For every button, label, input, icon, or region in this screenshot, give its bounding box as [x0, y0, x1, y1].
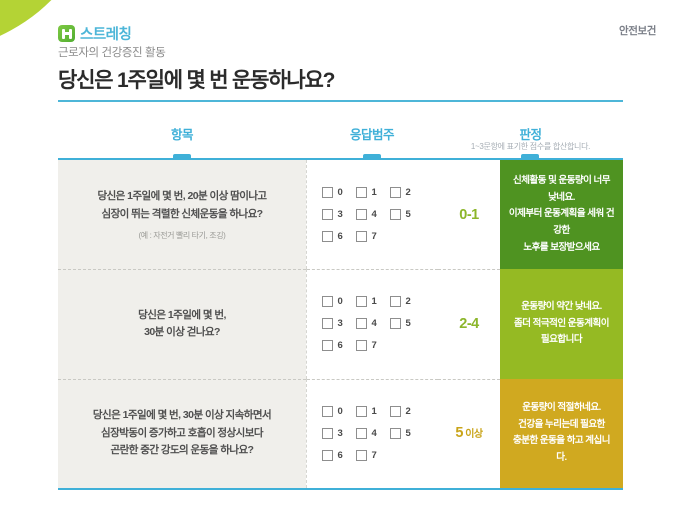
checkbox-option-4[interactable]: 4 [356, 314, 390, 333]
table-row: 당신은 1주일에 몇 번, 30분 이상 지속하면서심장박동이 증가하고 호흡이… [58, 379, 623, 488]
checkbox-option-4[interactable]: 4 [356, 205, 390, 224]
title-divider [58, 100, 623, 102]
checkbox-label: 0 [338, 187, 343, 198]
checkbox-label: 6 [338, 231, 343, 242]
checkbox-label: 5 [406, 318, 411, 329]
checkbox-icon[interactable] [390, 428, 401, 439]
checkbox-icon[interactable] [322, 187, 333, 198]
column-header-answers: 응답범주 [306, 124, 438, 143]
checkbox-option-1[interactable]: 1 [356, 292, 390, 311]
brand: 스트레칭 [58, 23, 131, 44]
result-panel: 운동량이 적절하네요.건강을 누리는데 필요한충분한 운동을 하고 계십니다. [500, 379, 623, 488]
checkbox-option-0[interactable]: 0 [322, 402, 356, 421]
checkbox-label: 0 [338, 406, 343, 417]
answer-options-cell: 01234567 [306, 160, 438, 269]
checkbox-icon[interactable] [322, 231, 333, 242]
checkbox-label: 1 [372, 187, 377, 198]
checkbox-label: 5 [406, 209, 411, 220]
score-cell: 0-1 [438, 160, 500, 269]
question-cell: 당신은 1주일에 몇 번, 20분 이상 땀이나고심장이 뛰는 격렬한 신체운동… [58, 160, 306, 269]
checkbox-option-0[interactable]: 0 [322, 292, 356, 311]
question-text: 당신은 1주일에 몇 번, 20분 이상 땀이나고심장이 뛰는 격렬한 신체운동… [97, 188, 266, 223]
table-row: 당신은 1주일에 몇 번,30분 이상 걷나요?012345672-4운동량이 … [58, 269, 623, 378]
checkbox-label: 7 [372, 231, 377, 242]
checkbox-option-6[interactable]: 6 [322, 446, 356, 465]
checkbox-icon[interactable] [322, 450, 333, 461]
checkbox-icon[interactable] [390, 209, 401, 220]
checkbox-label: 2 [406, 187, 411, 198]
checkbox-label: 0 [338, 296, 343, 307]
h-logo-icon [58, 25, 75, 42]
checkbox-option-2[interactable]: 2 [390, 183, 424, 202]
checkbox-label: 1 [372, 406, 377, 417]
answer-options-cell: 01234567 [306, 379, 438, 488]
question-cell: 당신은 1주일에 몇 번, 30분 이상 지속하면서심장박동이 증가하고 호흡이… [58, 379, 306, 488]
checkbox-label: 3 [338, 318, 343, 329]
checkbox-option-1[interactable]: 1 [356, 183, 390, 202]
checkbox-icon[interactable] [322, 296, 333, 307]
checkbox-grid: 01234567 [322, 402, 424, 465]
checkbox-option-6[interactable]: 6 [322, 336, 356, 355]
column-header-result-note: 1~3문항에 표기한 점수를 합산합니다. [438, 141, 623, 152]
org-label: 안전보건 [619, 23, 656, 38]
checkbox-label: 2 [406, 406, 411, 417]
checkbox-option-7[interactable]: 7 [356, 446, 390, 465]
question-text: 당신은 1주일에 몇 번,30분 이상 걷나요? [138, 307, 226, 342]
score-value: 5 이상 [455, 425, 482, 441]
checkbox-icon[interactable] [356, 187, 367, 198]
checkbox-option-2[interactable]: 2 [390, 402, 424, 421]
answer-options-cell: 01234567 [306, 269, 438, 378]
checkbox-grid: 01234567 [322, 292, 424, 355]
checkbox-option-7[interactable]: 7 [356, 227, 390, 246]
checkbox-icon[interactable] [356, 231, 367, 242]
result-text: 운동량이 약간 낮네요.좀더 적극적인 운동계획이필요합니다 [514, 299, 609, 349]
checkbox-icon[interactable] [356, 406, 367, 417]
checkbox-icon[interactable] [390, 318, 401, 329]
checkbox-option-6[interactable]: 6 [322, 227, 356, 246]
table-row: 당신은 1주일에 몇 번, 20분 이상 땀이나고심장이 뛰는 격렬한 신체운동… [58, 160, 623, 269]
checkbox-option-3[interactable]: 3 [322, 424, 356, 443]
checkbox-label: 6 [338, 340, 343, 351]
checkbox-option-4[interactable]: 4 [356, 424, 390, 443]
checkbox-option-7[interactable]: 7 [356, 336, 390, 355]
checkbox-label: 7 [372, 450, 377, 461]
checkbox-label: 6 [338, 450, 343, 461]
checkbox-icon[interactable] [356, 318, 367, 329]
checkbox-icon[interactable] [356, 450, 367, 461]
score-value: 0-1 [459, 207, 478, 223]
checkbox-label: 3 [338, 428, 343, 439]
checkbox-icon[interactable] [322, 318, 333, 329]
page-subtitle: 근로자의 건강증진 활동 [58, 44, 165, 60]
checkbox-option-5[interactable]: 5 [390, 205, 424, 224]
checkbox-option-1[interactable]: 1 [356, 402, 390, 421]
column-header-question: 항목 [58, 124, 306, 143]
checkbox-label: 2 [406, 296, 411, 307]
checkbox-label: 5 [406, 428, 411, 439]
result-text: 신체활동 및 운동량이 너무 낮네요.이제부터 운동계획을 세워 건강한노후를 … [508, 173, 615, 256]
score-cell: 2-4 [438, 269, 500, 378]
checkbox-label: 4 [372, 428, 377, 439]
checkbox-icon[interactable] [356, 428, 367, 439]
score-value: 2-4 [459, 316, 478, 332]
checkbox-grid: 01234567 [322, 183, 424, 246]
checkbox-label: 7 [372, 340, 377, 351]
checkbox-option-3[interactable]: 3 [322, 205, 356, 224]
score-cell: 5 이상 [438, 379, 500, 488]
checkbox-label: 3 [338, 209, 343, 220]
column-headers: 항목 응답범주 판정 1~3문항에 표기한 점수를 합산합니다. [58, 122, 623, 158]
result-text: 운동량이 적절하네요.건강을 누리는데 필요한충분한 운동을 하고 계십니다. [508, 400, 615, 467]
checkbox-icon[interactable] [322, 209, 333, 220]
checkbox-option-0[interactable]: 0 [322, 183, 356, 202]
checkbox-icon[interactable] [322, 428, 333, 439]
brand-name: 스트레칭 [80, 23, 131, 44]
checkbox-icon[interactable] [390, 296, 401, 307]
checkbox-icon[interactable] [356, 296, 367, 307]
checkbox-icon[interactable] [356, 340, 367, 351]
checkbox-label: 4 [372, 318, 377, 329]
checkbox-label: 1 [372, 296, 377, 307]
checkbox-option-5[interactable]: 5 [390, 314, 424, 333]
question-example: (예 : 자전거 빨리 타기, 조깅) [139, 230, 226, 241]
checkbox-icon[interactable] [390, 187, 401, 198]
checkbox-icon[interactable] [322, 406, 333, 417]
checkbox-option-5[interactable]: 5 [390, 424, 424, 443]
checkbox-option-2[interactable]: 2 [390, 292, 424, 311]
questionnaire-table: 당신은 1주일에 몇 번, 20분 이상 땀이나고심장이 뛰는 격렬한 신체운동… [58, 160, 623, 490]
checkbox-icon[interactable] [390, 406, 401, 417]
score-suffix: 이상 [463, 429, 483, 440]
result-panel: 신체활동 및 운동량이 너무 낮네요.이제부터 운동계획을 세워 건강한노후를 … [500, 160, 623, 269]
question-cell: 당신은 1주일에 몇 번,30분 이상 걷나요? [58, 269, 306, 378]
page-header: 스트레칭 근로자의 건강증진 활동 당신은 1주일에 몇 번 운동하나요? 안전… [0, 0, 680, 110]
question-text: 당신은 1주일에 몇 번, 30분 이상 지속하면서심장박동이 증가하고 호흡이… [93, 407, 271, 459]
checkbox-icon[interactable] [322, 340, 333, 351]
checkbox-label: 4 [372, 209, 377, 220]
page-title: 당신은 1주일에 몇 번 운동하나요? [58, 64, 334, 94]
checkbox-option-3[interactable]: 3 [322, 314, 356, 333]
result-panel: 운동량이 약간 낮네요.좀더 적극적인 운동계획이필요합니다 [500, 269, 623, 378]
checkbox-icon[interactable] [356, 209, 367, 220]
